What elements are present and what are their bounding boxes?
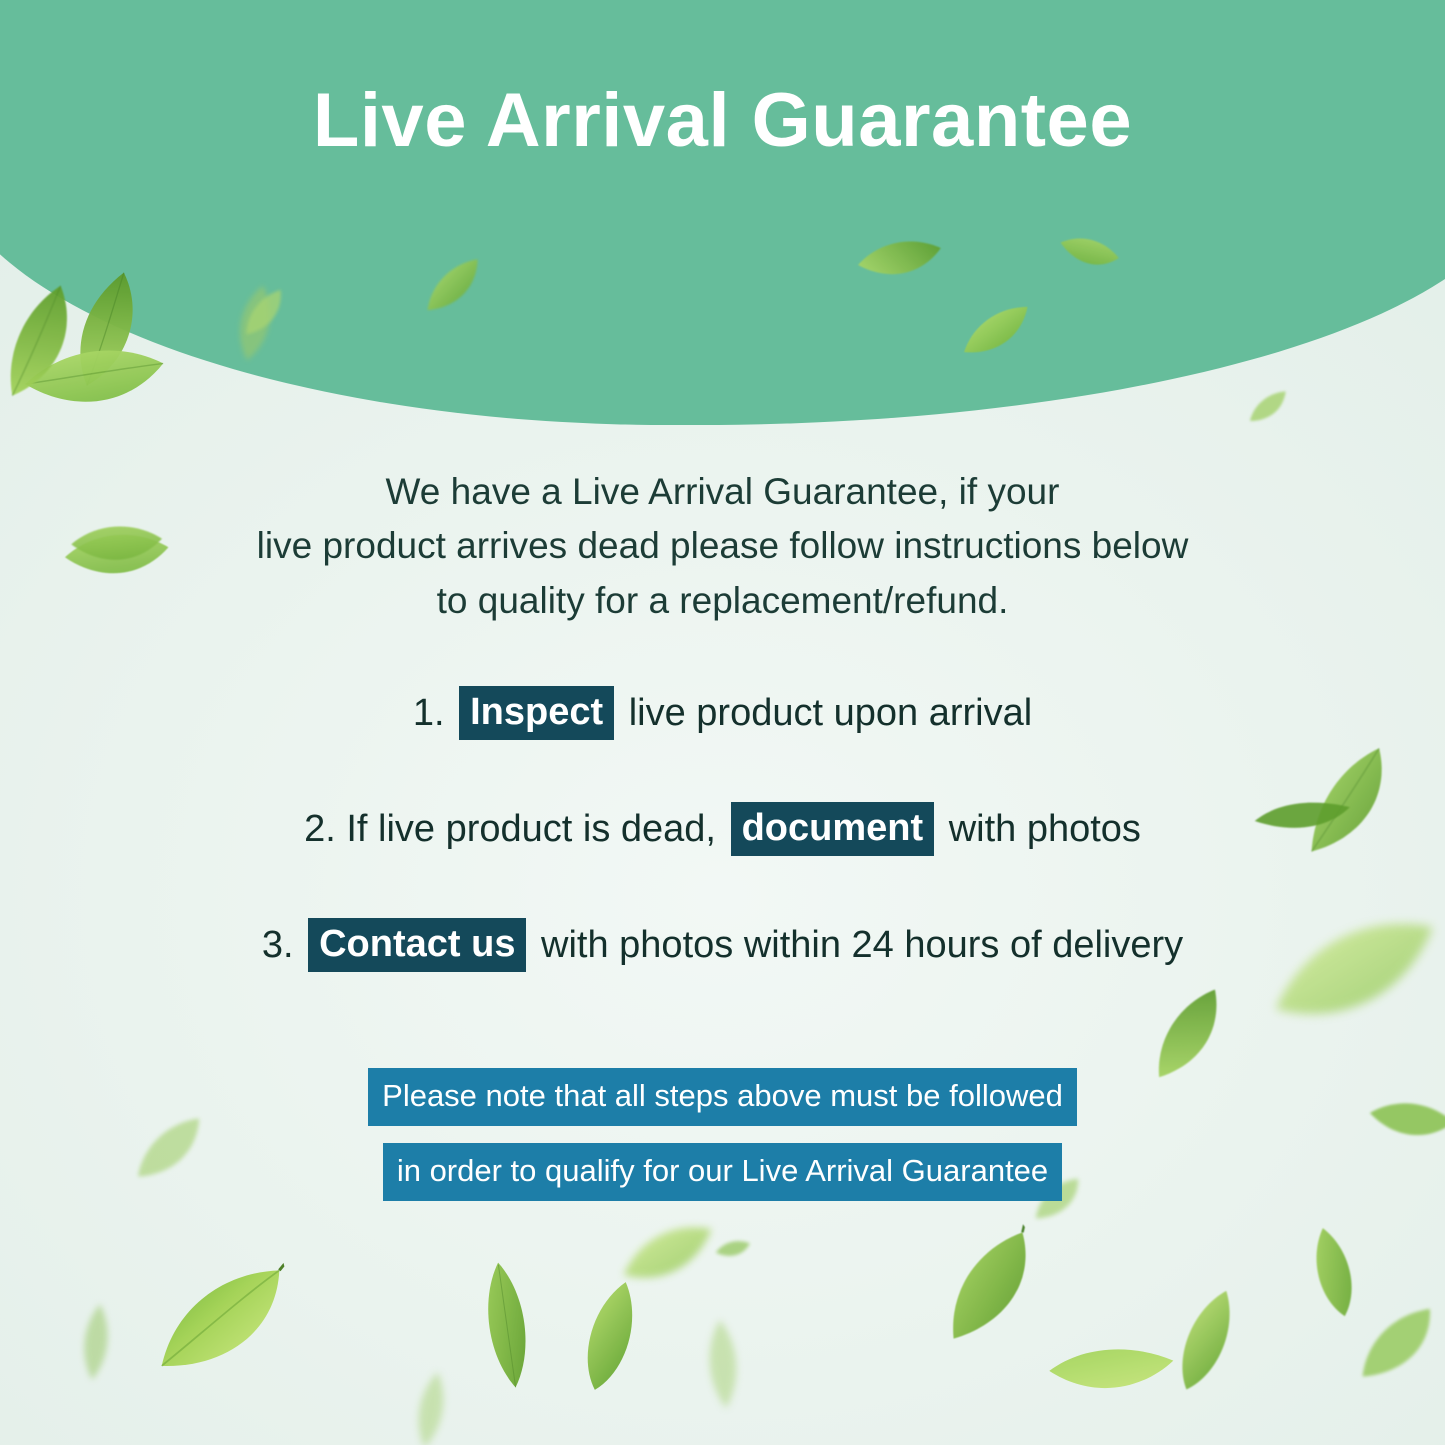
header-banner: Live Arrival Guarantee bbox=[0, 0, 1445, 425]
leaf-decoration bbox=[394, 1365, 469, 1445]
page-title: Live Arrival Guarantee bbox=[313, 77, 1132, 164]
intro-line-2: live product arrives dead please follow … bbox=[0, 519, 1445, 573]
leaf-decoration bbox=[1343, 1296, 1445, 1393]
leaf-decoration bbox=[1243, 388, 1292, 426]
leaf-decoration bbox=[617, 1217, 720, 1295]
note-bar-line-1: Please note that all steps above must be… bbox=[368, 1068, 1077, 1126]
leaf-decoration bbox=[916, 1219, 1065, 1357]
intro-line-1: We have a Live Arrival Guarantee, if you… bbox=[0, 465, 1445, 519]
step-2-text-before: If live product is dead, bbox=[346, 810, 716, 848]
intro-paragraph: We have a Live Arrival Guarantee, if you… bbox=[0, 465, 1445, 628]
step-item-3: 3. Contact us with photos within 24 hour… bbox=[0, 918, 1445, 972]
leaf-decoration bbox=[714, 1233, 752, 1265]
leaf-decoration bbox=[1043, 1322, 1178, 1415]
step-1-number: 1. bbox=[413, 694, 445, 732]
steps-list: 1. Inspect live product upon arrival 2. … bbox=[0, 686, 1445, 972]
step-item-1: 1. Inspect live product upon arrival bbox=[0, 686, 1445, 740]
leaf-decoration bbox=[1287, 1218, 1380, 1329]
leaf-decoration bbox=[140, 1254, 307, 1390]
step-item-2: 2. If live product is dead, document wit… bbox=[0, 802, 1445, 856]
leaf-decoration bbox=[1142, 1272, 1269, 1410]
leaf-decoration bbox=[471, 1257, 543, 1395]
step-2-number: 2. bbox=[304, 810, 336, 848]
leaf-decoration bbox=[73, 1294, 118, 1389]
note-section: Please note that all steps above must be… bbox=[0, 1068, 1445, 1201]
leaf-decoration bbox=[555, 1269, 664, 1404]
note-bar-line-2: in order to qualify for our Live Arrival… bbox=[383, 1143, 1062, 1201]
live-arrival-guarantee-poster: Live Arrival Guarantee We have a Live Ar… bbox=[0, 0, 1445, 1445]
step-2-highlight: document bbox=[731, 802, 935, 856]
intro-line-3: to quality for a replacement/refund. bbox=[0, 574, 1445, 628]
step-3-number: 3. bbox=[262, 926, 294, 964]
step-1-highlight: Inspect bbox=[459, 686, 614, 740]
step-3-text: with photos within 24 hours of delivery bbox=[541, 926, 1183, 964]
step-3-highlight: Contact us bbox=[308, 918, 526, 972]
step-2-text-after: with photos bbox=[949, 810, 1141, 848]
leaf-decoration bbox=[697, 1317, 749, 1412]
step-1-text: live product upon arrival bbox=[629, 694, 1032, 732]
